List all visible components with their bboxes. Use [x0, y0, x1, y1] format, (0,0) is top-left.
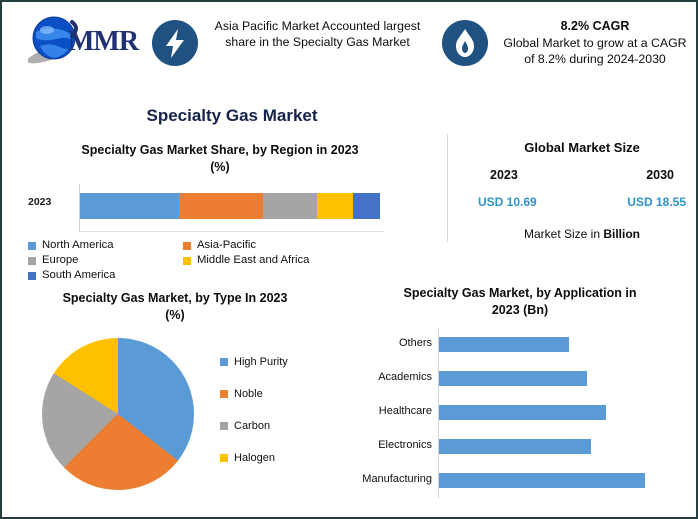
legend-item-middle-east-and-africa: Middle East and Africa [183, 253, 309, 268]
legend-item-north-america: North America [28, 238, 183, 253]
cagr-highlight: 8.2% CAGR Global Market to grow at a CAG… [442, 12, 692, 67]
legend-item-asia-pacific: Asia-Pacific [183, 238, 256, 253]
cagr-description: Global Market to grow at a CAGR of 8.2% … [503, 36, 686, 66]
pie-chart [42, 338, 194, 490]
legend-label: North America [42, 238, 114, 253]
region-segment [353, 193, 380, 219]
legend-label: Asia-Pacific [197, 238, 256, 253]
legend-swatch [183, 242, 191, 250]
legend-label: Middle East and Africa [197, 253, 309, 268]
market-size-value-2023: USD 10.69 [478, 195, 537, 209]
application-bar-label: Academics [354, 371, 432, 383]
mmr-logo: MMR [16, 10, 150, 74]
application-bar [439, 405, 606, 420]
application-bar [439, 439, 591, 454]
application-bar-label: Others [354, 337, 432, 349]
global-market-size-panel: Global Market Size 2023 2030 USD 10.69 U… [474, 140, 690, 241]
legend-label: South America [42, 268, 115, 283]
legend-swatch [28, 242, 36, 250]
application-bar-row: Healthcare [354, 396, 690, 430]
legend-item-noble: Noble [220, 378, 288, 410]
lightning-bolt-icon [152, 20, 198, 66]
region-stacked-bar [80, 193, 380, 219]
legend-swatch [28, 257, 36, 265]
legend-item-europe: Europe [28, 253, 183, 268]
legend-swatch [28, 272, 36, 280]
application-bar [439, 337, 569, 352]
type-chart-title-line2: (%) [20, 307, 330, 324]
region-chart-title: Specialty Gas Market Share, by Region in… [20, 142, 420, 176]
legend-swatch [183, 257, 191, 265]
application-bar [439, 473, 645, 488]
legend-label: Noble [234, 388, 263, 400]
region-category-label: 2023 [28, 196, 51, 208]
panel-divider [447, 134, 448, 242]
cagr-headline: 8.2% CAGR [498, 18, 692, 35]
legend-item-carbon: Carbon [220, 410, 288, 442]
header: MMR Asia Pacific Market Accounted larges… [2, 2, 696, 98]
legend-item-halogen: Halogen [220, 442, 288, 474]
application-bar-label: Electronics [354, 439, 432, 451]
market-size-year-2030: 2030 [646, 168, 674, 182]
type-share-chart: Specialty Gas Market, by Type In 2023 (%… [12, 290, 342, 494]
market-size-footnote: Market Size in Billion [474, 227, 690, 241]
application-chart-title-line2: 2023 (Bn) [360, 302, 680, 319]
asia-highlight-text: Asia Pacific Market Accounted largest sh… [208, 12, 427, 50]
application-chart-title: Specialty Gas Market, by Application in … [360, 285, 680, 319]
region-segment [179, 193, 263, 219]
region-share-chart: Specialty Gas Market Share, by Region in… [16, 142, 436, 283]
flame-icon [442, 20, 488, 66]
market-size-year-2023: 2023 [490, 168, 518, 182]
application-bar-row: Others [354, 328, 690, 362]
region-chart-title-line1: Specialty Gas Market Share, by Region in… [20, 142, 420, 159]
region-segment [317, 193, 353, 219]
cagr-highlight-text: 8.2% CAGR Global Market to grow at a CAG… [498, 12, 692, 67]
application-chart: Specialty Gas Market, by Application in … [354, 285, 690, 500]
asia-highlight: Asia Pacific Market Accounted largest sh… [152, 12, 427, 66]
legend-label: Carbon [234, 420, 270, 432]
legend-swatch [220, 358, 228, 366]
application-bar [439, 371, 587, 386]
pie-legend: High Purity Noble Carbon Halogen [220, 346, 288, 474]
global-market-size-title: Global Market Size [474, 140, 690, 155]
application-plot-area: OthersAcademicsHealthcareElectronicsManu… [354, 328, 690, 500]
legend-label: Europe [42, 253, 78, 268]
legend-swatch [220, 390, 228, 398]
application-bar-row: Manufacturing [354, 464, 690, 498]
market-size-value-2030: USD 18.55 [627, 195, 686, 209]
application-chart-title-line1: Specialty Gas Market, by Application in [360, 285, 680, 302]
region-chart-title-line2: (%) [20, 159, 420, 176]
region-baseline [79, 231, 384, 232]
application-bar-label: Manufacturing [354, 473, 432, 485]
legend-label: Halogen [234, 452, 275, 464]
region-segment [80, 193, 179, 219]
legend-swatch [220, 422, 228, 430]
logo-text: MMR [68, 26, 138, 58]
application-bar-label: Healthcare [354, 405, 432, 417]
type-chart-title: Specialty Gas Market, by Type In 2023 (%… [20, 290, 330, 324]
pie-plot-area: High Purity Noble Carbon Halogen [12, 334, 342, 494]
market-size-footnote-prefix: Market Size in [524, 227, 603, 241]
infographic-frame: MMR Asia Pacific Market Accounted larges… [0, 0, 698, 519]
application-bar-row: Academics [354, 362, 690, 396]
region-legend: North America Asia-Pacific Europe Middle… [28, 238, 428, 283]
legend-item-south-america: South America [28, 268, 183, 283]
region-segment [263, 193, 317, 219]
application-bar-row: Electronics [354, 430, 690, 464]
market-size-footnote-unit: Billion [603, 227, 640, 241]
legend-swatch [220, 454, 228, 462]
page-title: Specialty Gas Market [2, 106, 462, 126]
type-chart-title-line1: Specialty Gas Market, by Type In 2023 [20, 290, 330, 307]
legend-item-high-purity: High Purity [220, 346, 288, 378]
legend-label: High Purity [234, 356, 288, 368]
region-plot-area: 2023 [16, 184, 436, 232]
